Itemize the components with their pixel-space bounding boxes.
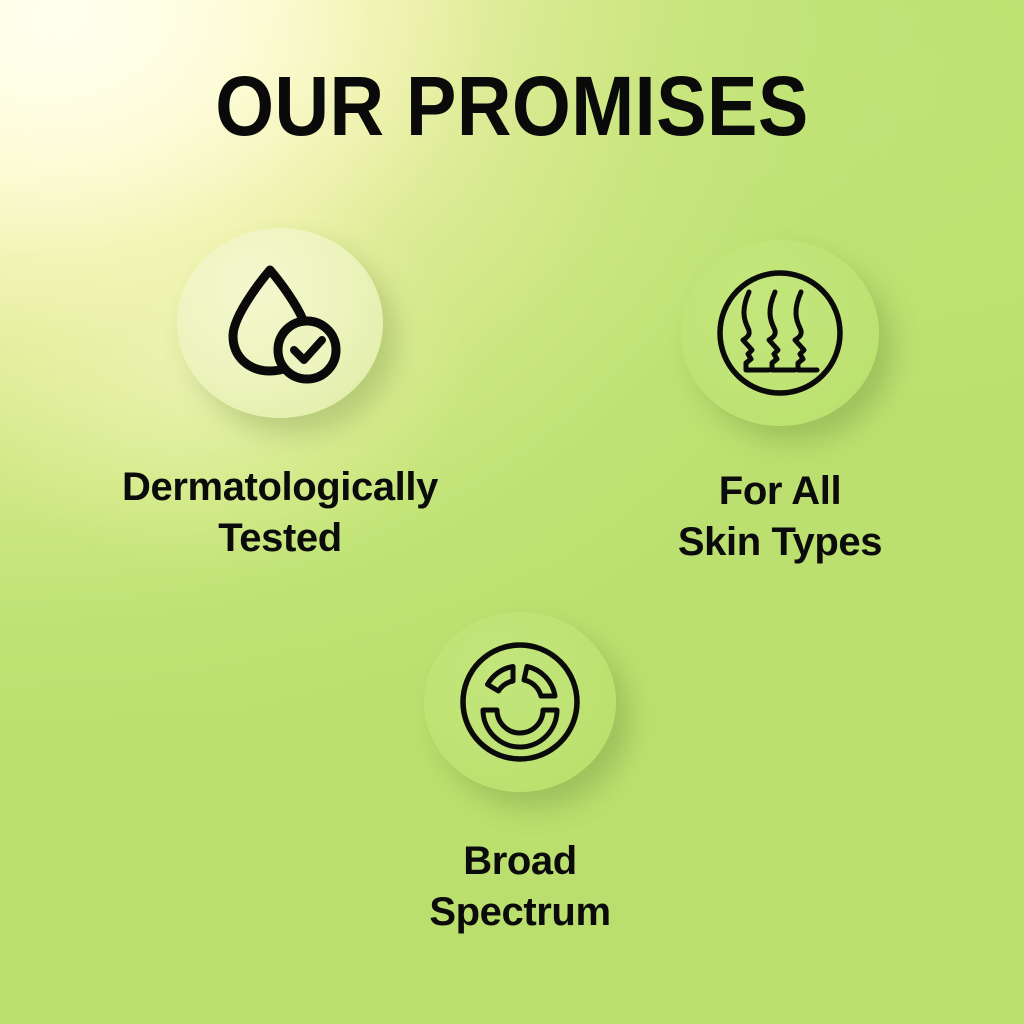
- promise-item-dermatologically-tested: Dermatologically Tested: [60, 228, 500, 564]
- promise-badge-circle: [177, 228, 383, 418]
- promise-badge-circle: [424, 612, 616, 792]
- page-title: OUR PROMISES: [51, 64, 973, 148]
- promise-label: Dermatologically Tested: [122, 462, 438, 564]
- promises-poster: OUR PROMISES Dermatologically Tested: [0, 0, 1024, 1024]
- broad-spectrum-ring-icon: [456, 638, 584, 766]
- promise-label: Broad Spectrum: [429, 836, 610, 938]
- promise-badge-circle: [681, 240, 879, 426]
- promise-item-broad-spectrum: Broad Spectrum: [320, 612, 720, 938]
- promise-label: For All Skin Types: [678, 466, 882, 568]
- water-drop-check-icon: [215, 258, 345, 388]
- three-face-profiles-icon: [713, 266, 847, 400]
- promise-item-for-all-skin-types: For All Skin Types: [580, 240, 980, 568]
